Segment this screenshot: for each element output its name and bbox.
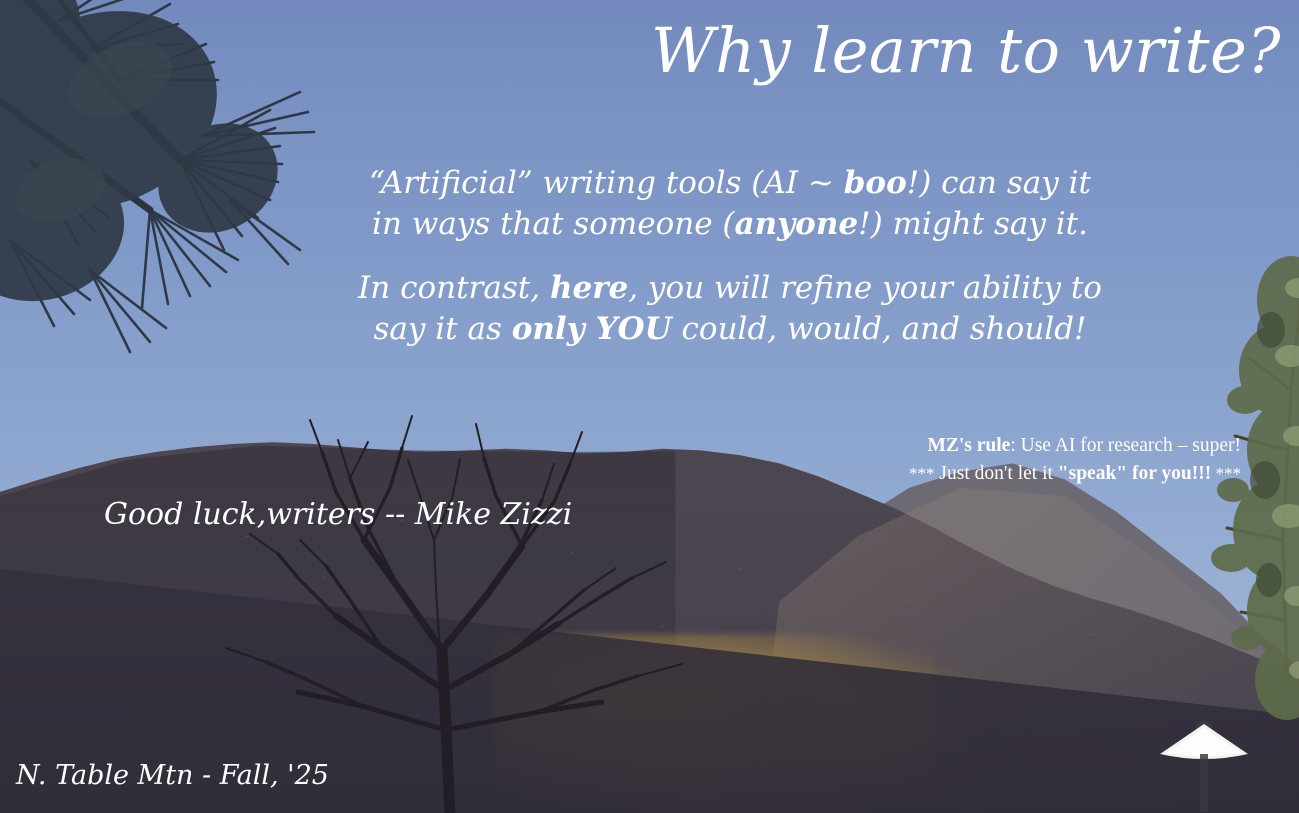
p1l2-c: !) might say it. (858, 206, 1088, 242)
slide-canvas: Why learn to write? “Artificial” writing… (0, 0, 1299, 813)
photo-caption: N. Table Mtn - Fall, '25 (16, 760, 329, 791)
callout-stars-left: *** (909, 464, 935, 483)
paragraph-1-line-2: in ways that someone (anyone!) might say… (300, 204, 1160, 245)
callout-line-2-a: Just don't let it (935, 463, 1058, 484)
leafy-tree-icon (1187, 240, 1299, 760)
p2l1-emphasis: here (550, 270, 628, 306)
paragraph-2-line-2: say it as only YOU could, would, and sho… (300, 309, 1160, 350)
callout-line-2-emphasis: "speak" for you!!! (1058, 463, 1211, 484)
p1l1-a: “Artificial” writing tools (AI ~ (369, 165, 844, 201)
p2l1-a: In contrast, (358, 270, 550, 306)
p2l2-c: could, would, and should! (672, 311, 1087, 347)
p2l2-a: say it as (373, 311, 511, 347)
p1l1-c: !) can say it (907, 165, 1091, 201)
paragraph-2-line-1: In contrast, here, you will refine your … (300, 268, 1160, 309)
paragraph-2: In contrast, here, you will refine your … (300, 268, 1160, 350)
callout-label: MZ's rule (927, 435, 1010, 456)
p2l2-emphasis: only YOU (512, 311, 672, 347)
white-umbrella-icon (1152, 712, 1262, 812)
paragraph-1-line-1: “Artificial” writing tools (AI ~ boo!) c… (300, 163, 1160, 204)
bare-tree-icon (150, 400, 770, 813)
callout-stars-right: *** (1211, 464, 1241, 483)
signature-text: Good luck,writers -- Mike Zizzi (104, 497, 572, 532)
callout-line-1-text: : Use AI for research – super! (1010, 435, 1241, 456)
p1l2-a: in ways that someone ( (372, 206, 734, 242)
callout-mz-rule: MZ's rule: Use AI for research – super! … (909, 432, 1241, 487)
callout-line-2: *** Just don't let it "speak" for you!!!… (909, 460, 1241, 488)
page-title: Why learn to write? (651, 18, 1281, 83)
p1l1-emphasis: boo (844, 165, 907, 201)
paragraph-1: “Artificial” writing tools (AI ~ boo!) c… (300, 163, 1160, 245)
callout-line-1: MZ's rule: Use AI for research – super! (909, 432, 1241, 460)
p1l2-emphasis: anyone (735, 206, 859, 242)
p2l1-c: , you will refine your ability to (628, 270, 1102, 306)
